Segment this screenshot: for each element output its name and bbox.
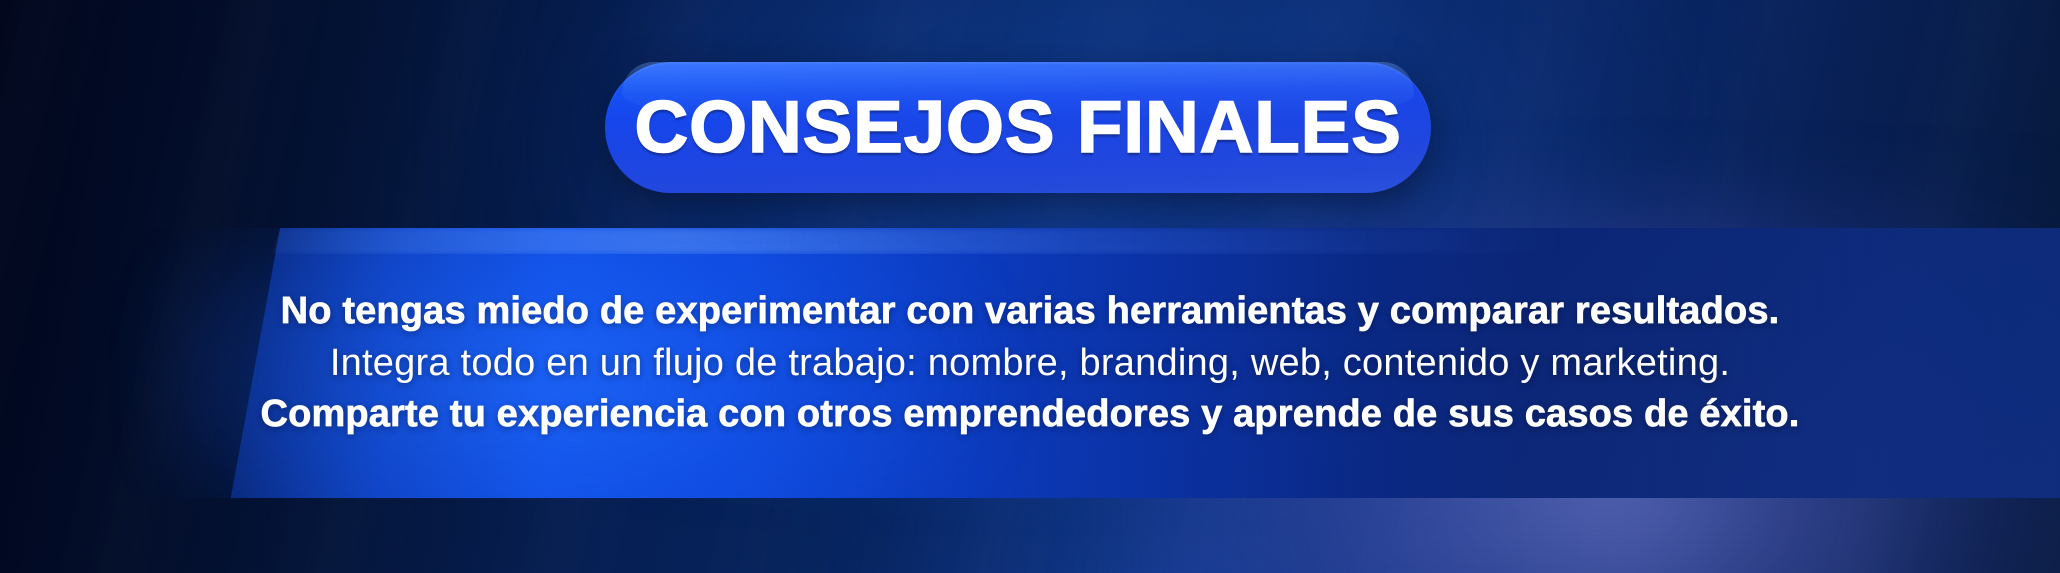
body-copy-line-3: Comparte tu experiencia con otros empren… — [0, 389, 2060, 441]
slide-root: CONSEJOS FINALES No tengas miedo de expe… — [0, 0, 2060, 573]
section-title-badge[interactable]: CONSEJOS FINALES — [605, 62, 1431, 193]
body-copy-line-1: No tengas miedo de experimentar con vari… — [0, 286, 2060, 338]
body-copy-block: No tengas miedo de experimentar con vari… — [0, 286, 2060, 441]
highlight-band-top-edge — [0, 228, 2060, 254]
section-title-label: CONSEJOS FINALES — [634, 91, 1401, 164]
body-copy-line-2: Integra todo en un flujo de trabajo: nom… — [0, 338, 2060, 390]
